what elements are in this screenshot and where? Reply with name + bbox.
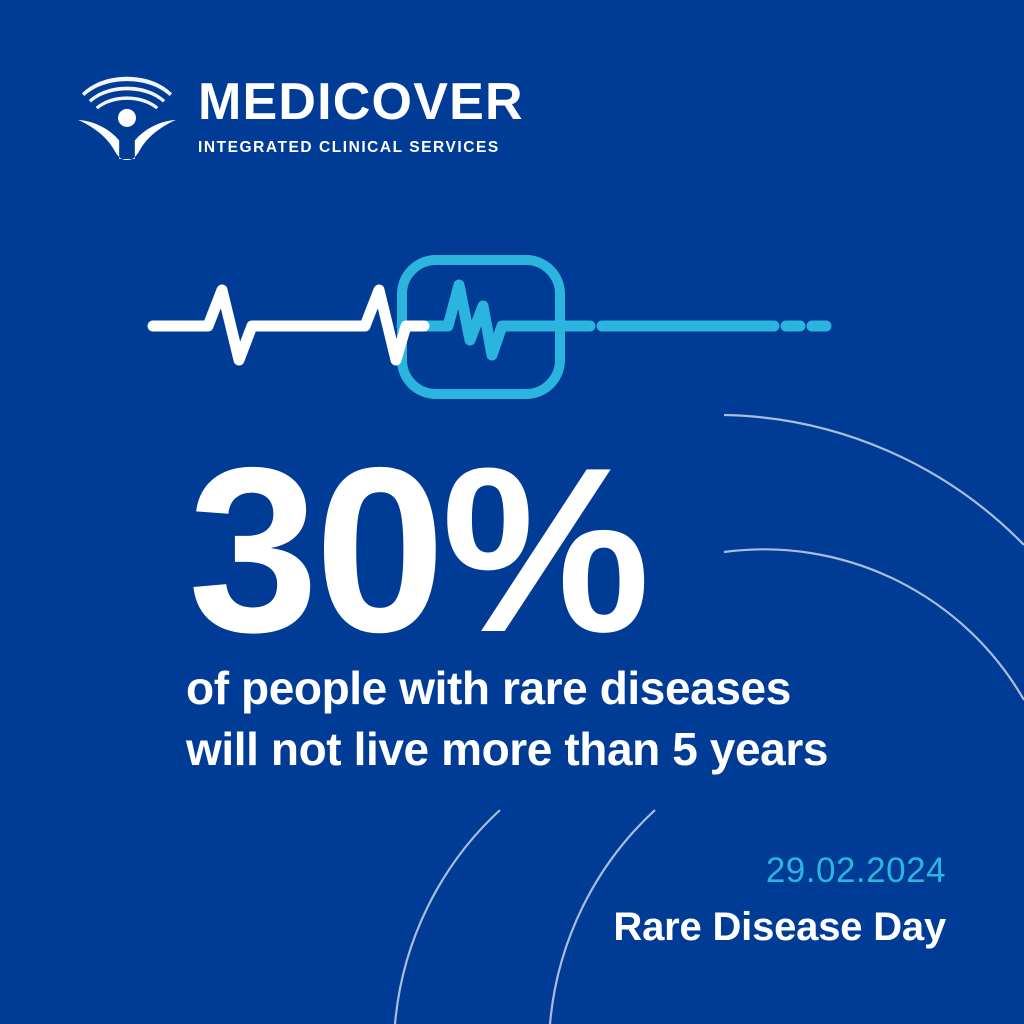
ecg-heartbeat-svg — [140, 240, 850, 415]
ecg-cyan-trace — [402, 285, 564, 355]
poster-canvas: MEDICOVER INTEGRATED CLINICAL SERVICES 3… — [0, 0, 1024, 1024]
event-title: Rare Disease Day — [613, 905, 946, 949]
logo-text-group: MEDICOVER INTEGRATED CLINICAL SERVICES — [198, 64, 524, 157]
ecg-white-trace — [153, 290, 424, 360]
arc-bottom-outer — [395, 810, 500, 1024]
footer-block: 29.02.2024 Rare Disease Day — [613, 852, 946, 949]
arc-top-outer — [724, 415, 1024, 545]
medicover-arcs-figure-mark-icon — [78, 66, 176, 162]
stat-description: of people with rare diseases will not li… — [186, 658, 828, 780]
logo-tagline: INTEGRATED CLINICAL SERVICES — [198, 139, 524, 157]
brand-logo[interactable]: MEDICOVER INTEGRATED CLINICAL SERVICES — [78, 64, 524, 162]
event-date: 29.02.2024 — [613, 852, 946, 891]
stat-description-line-2: will not live more than 5 years — [186, 719, 828, 780]
stat-percentage: 30% — [188, 432, 646, 667]
logo-wordmark: MEDICOVER — [198, 76, 524, 128]
ecg-heartbeat-graphic — [140, 240, 850, 415]
stat-description-line-1: of people with rare diseases — [186, 658, 828, 719]
